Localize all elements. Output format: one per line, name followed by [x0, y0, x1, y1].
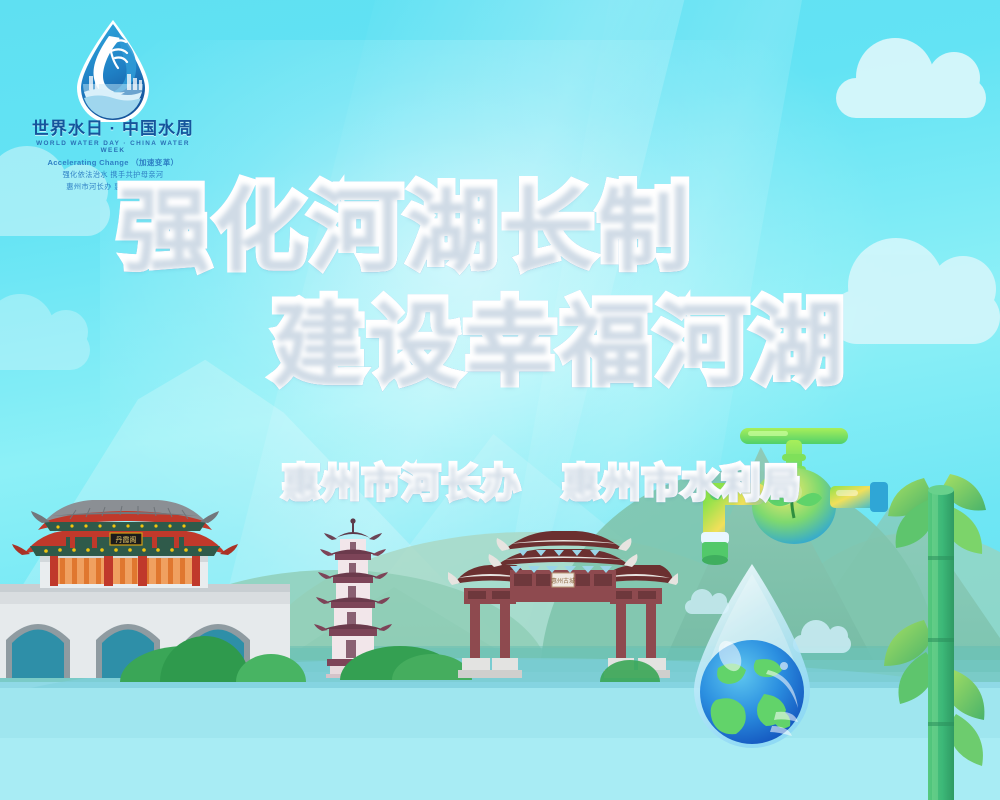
poster-subtitle: 惠州市河长办 惠州市水利局 [0, 452, 1000, 507]
cloud-icon [836, 78, 986, 118]
poster-canvas: 丹霞阁 [0, 0, 1000, 800]
title-line-1: 强化河湖长制 [0, 178, 1000, 277]
logo-theme-text: Accelerating Change （加速变革） [24, 157, 202, 168]
logo-chinese-title: 世界水日 · 中国水周 [24, 120, 202, 139]
logo-english-title: WORLD WATER DAY · CHINA WATER WEEK [24, 140, 202, 154]
world-water-day-logo: 世界水日 · 中国水周 WORLD WATER DAY · CHINA WATE… [24, 18, 202, 192]
svg-text:丹霞阁: 丹霞阁 [116, 535, 137, 544]
title-line-2: 建设幸福河湖 [0, 293, 1000, 392]
water-droplet-earth-illustration [672, 560, 832, 770]
water-drop-emblem-icon [65, 18, 161, 122]
bamboo-illustration [880, 470, 1000, 800]
paifang-archway-illustration: 惠州古城 [448, 522, 678, 682]
title-line-2-text: 建设幸福河湖 [272, 289, 848, 396]
water-band-near [0, 738, 1000, 800]
svg-text:惠州古城: 惠州古城 [551, 577, 575, 585]
poster-subtitle-text: 惠州市河长办 惠州市水利局 [282, 461, 802, 505]
poster-title-block: 强化河湖长制 建设幸福河湖 [0, 178, 1000, 393]
title-line-1-text: 强化河湖长制 [118, 174, 694, 281]
